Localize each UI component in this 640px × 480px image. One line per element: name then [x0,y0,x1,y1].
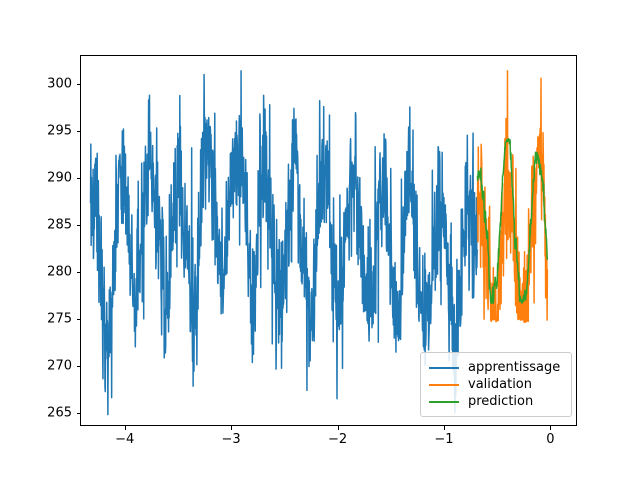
x-tick-mark [125,426,126,430]
y-tick-mark [77,178,81,179]
matplotlib-figure: −4−3−2−10 265270275280285290295300 appre… [0,0,640,480]
y-tick-mark [77,366,81,367]
legend-line-icon [429,384,459,386]
x-tick-label: −4 [115,432,134,447]
y-tick-label: 270 [47,358,72,373]
y-tick-label: 300 [47,77,72,92]
legend-line-icon [429,401,459,403]
legend-item-apprentissage[interactable]: apprentissage [429,359,563,376]
y-tick-label: 280 [47,264,72,279]
x-tick-label: 0 [546,432,554,447]
y-tick-mark [77,272,81,273]
y-tick-label: 285 [47,218,72,233]
legend-label: apprentissage [468,360,560,375]
legend-label: prediction [468,394,533,409]
y-tick-mark [77,131,81,132]
legend-label: validation [468,377,532,392]
legend-line-icon [429,367,459,369]
y-tick-mark [77,84,81,85]
y-tick-label: 290 [47,171,72,186]
y-tick-label: 295 [47,124,72,139]
x-tick-label: −2 [328,432,347,447]
legend-item-validation[interactable]: validation [429,376,563,393]
y-tick-label: 265 [47,405,72,420]
x-tick-mark [231,426,232,430]
y-tick-mark [77,319,81,320]
y-tick-mark [77,413,81,414]
legend-item-prediction[interactable]: prediction [429,393,563,410]
y-tick-mark [77,225,81,226]
x-tick-label: −1 [434,432,453,447]
x-tick-mark [338,426,339,430]
legend[interactable]: apprentissagevalidationprediction [420,352,572,417]
x-tick-mark [550,426,551,430]
x-tick-label: −3 [222,432,241,447]
y-tick-label: 275 [47,311,72,326]
x-tick-mark [444,426,445,430]
